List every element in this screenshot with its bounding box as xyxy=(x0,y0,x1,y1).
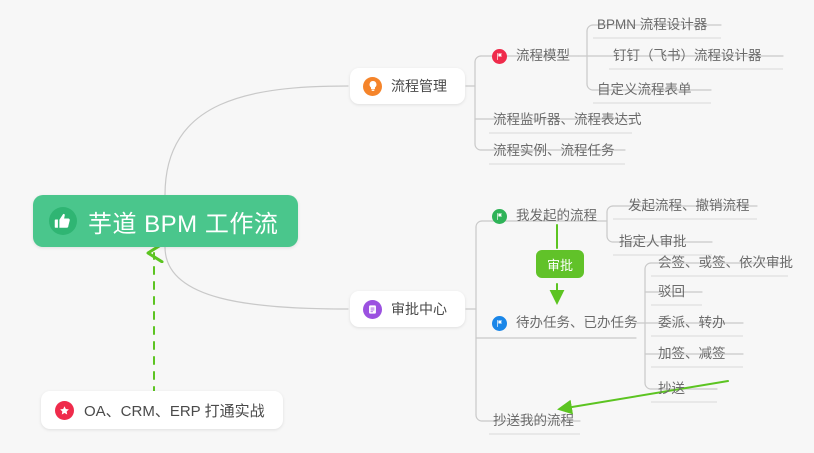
node-add-remove-sign[interactable]: 加签、减签 xyxy=(655,341,730,367)
edge-todo-corner-top xyxy=(645,263,651,269)
edge-root-to-process-management xyxy=(165,86,348,195)
node-countersign-or-sequential[interactable]: 会签、或签、依次审批 xyxy=(655,250,797,276)
edge-mine-corner-top xyxy=(607,206,613,212)
node-cc-to-me-process[interactable]: 抄送我的流程 xyxy=(490,408,578,434)
node-process-listener-expression[interactable]: 流程监听器、流程表达式 xyxy=(490,107,646,133)
edge-ac-corner-bottom xyxy=(476,415,482,421)
flag-green-icon xyxy=(492,209,507,224)
node-label: 我发起的流程 xyxy=(516,209,597,223)
edge-model-corner-top xyxy=(587,25,593,31)
node-dingtalk-feishu-designer[interactable]: 钉钉（飞书）流程设计器 xyxy=(610,43,766,69)
node-label: 驳回 xyxy=(658,285,685,299)
flag-blue-icon xyxy=(492,316,507,331)
annotation-label: 审批 xyxy=(547,255,573,274)
node-reject[interactable]: 驳回 xyxy=(655,279,689,305)
node-label: 抄送我的流程 xyxy=(493,414,574,428)
root-node[interactable]: 芋道 BPM 工作流 xyxy=(33,195,298,247)
annotation-approval-badge: 审批 xyxy=(536,250,584,278)
node-label: 流程监听器、流程表达式 xyxy=(493,113,642,127)
node-label: BPMN 流程设计器 xyxy=(597,18,707,32)
edge-ac-corner-top xyxy=(476,221,482,227)
edge-todo-corner-bottom xyxy=(645,383,651,389)
node-delegate-transfer[interactable]: 委派、转办 xyxy=(655,310,730,336)
branch-label: 流程管理 xyxy=(391,76,447,96)
node-label: 流程模型 xyxy=(516,49,570,63)
branch-approval-center[interactable]: 审批中心 xyxy=(350,291,465,327)
node-label: 加签、减签 xyxy=(658,347,726,361)
flag-red-icon xyxy=(492,49,507,64)
footnote-label: OA、CRM、ERP 打通实战 xyxy=(84,400,265,421)
node-label: 委派、转办 xyxy=(658,316,726,330)
lightbulb-icon xyxy=(363,77,382,96)
node-label: 指定人审批 xyxy=(619,235,687,249)
node-todo-done-tasks[interactable]: 待办任务、已办任务 xyxy=(490,310,642,336)
node-start-cancel-process[interactable]: 发起流程、撤销流程 xyxy=(625,193,754,219)
node-label: 流程实例、流程任务 xyxy=(493,144,615,158)
document-icon xyxy=(363,300,382,319)
node-my-initiated-process[interactable]: 我发起的流程 xyxy=(490,203,601,229)
node-label: 会签、或签、依次审批 xyxy=(658,256,793,270)
footnote-integration-note[interactable]: OA、CRM、ERP 打通实战 xyxy=(41,391,283,429)
node-custom-process-form[interactable]: 自定义流程表单 xyxy=(594,77,696,103)
thumbs-up-icon xyxy=(49,207,77,235)
branch-process-management[interactable]: 流程管理 xyxy=(350,68,465,104)
root-label: 芋道 BPM 工作流 xyxy=(88,204,278,239)
mindmap-canvas: 芋道 BPM 工作流 流程管理 流程模型 BPMN 流程设计器 钉钉（飞书）流程… xyxy=(0,0,814,453)
node-process-instance-task[interactable]: 流程实例、流程任务 xyxy=(490,138,619,164)
node-label: 发起流程、撤销流程 xyxy=(628,199,750,213)
node-process-model[interactable]: 流程模型 xyxy=(490,43,574,69)
arrow-cc-to-ccme xyxy=(560,381,728,409)
edge-pm-corner-top xyxy=(475,56,481,62)
node-bpmn-designer[interactable]: BPMN 流程设计器 xyxy=(594,12,711,38)
node-label: 钉钉（飞书）流程设计器 xyxy=(613,49,762,63)
node-label: 抄送 xyxy=(658,382,685,396)
edge-pm-corner-bottom xyxy=(475,144,481,150)
branch-label: 审批中心 xyxy=(391,299,447,319)
star-icon xyxy=(55,401,74,420)
node-label: 自定义流程表单 xyxy=(597,83,692,97)
node-label: 待办任务、已办任务 xyxy=(516,316,638,330)
edge-root-to-approval-center xyxy=(165,247,348,309)
node-cc[interactable]: 抄送 xyxy=(655,376,689,402)
edge-model-corner-bottom xyxy=(587,84,593,90)
edge-mine-corner-bottom xyxy=(607,236,613,242)
